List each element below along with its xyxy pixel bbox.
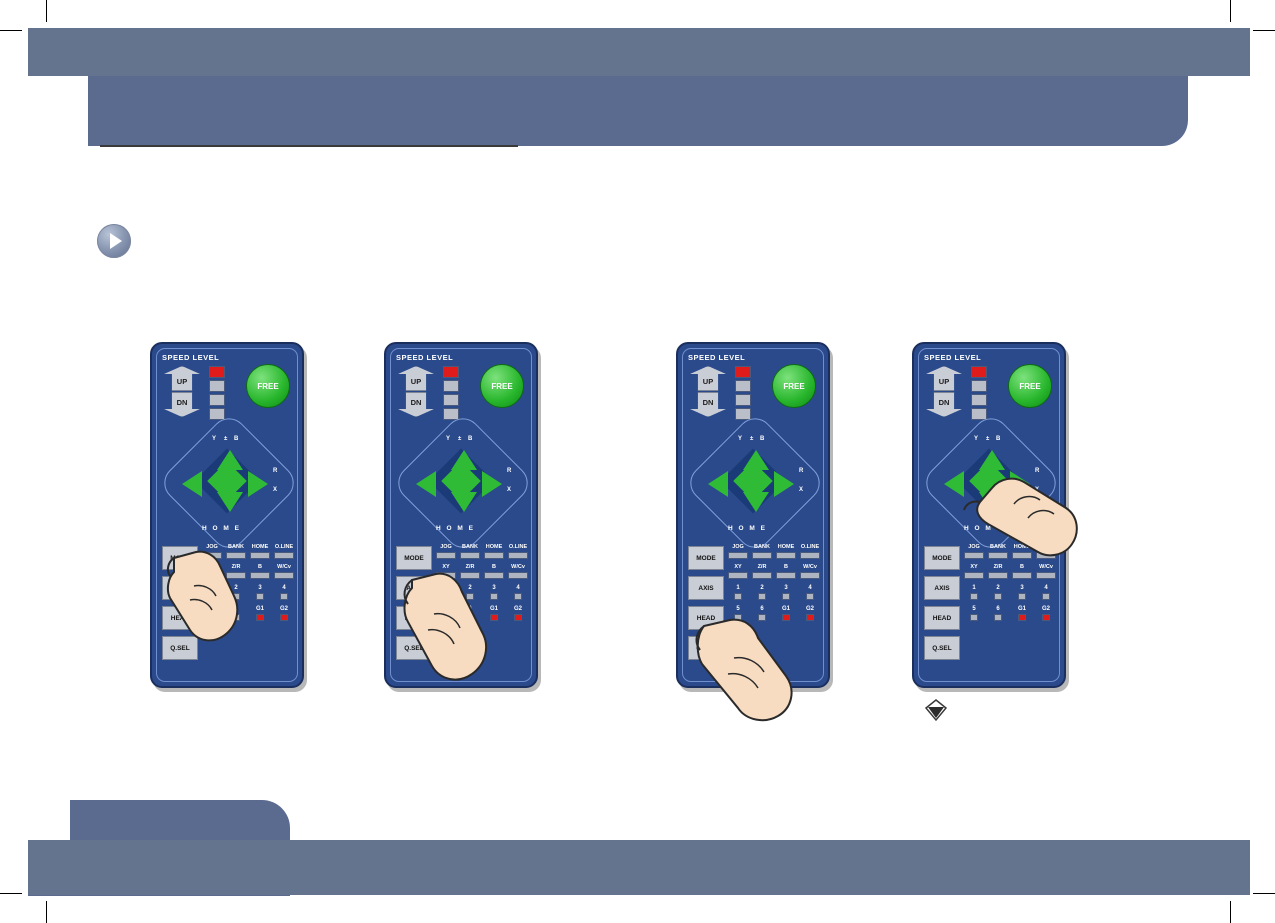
level-led-1 (443, 366, 459, 378)
home-led-2 (484, 552, 504, 559)
number-row-4b: 5 6 G1 G2 (964, 605, 1056, 621)
home-led-3 (776, 552, 796, 559)
xy-label-4: XY (964, 564, 984, 571)
num-1-cell-2[interactable]: 1 (436, 584, 456, 600)
qsel-button-3[interactable]: Q.SEL (688, 636, 724, 660)
g1-label-4: G1 (1012, 605, 1032, 613)
num-6-cell-1[interactable]: 6 (226, 605, 246, 621)
num-2-led-1 (232, 593, 240, 600)
dpad-left-arrow-icon-3[interactable] (708, 471, 728, 497)
num-4-label-3: 4 (800, 584, 820, 592)
wcv-led-3 (800, 572, 820, 579)
g2-led-4 (1042, 614, 1050, 621)
num-3-cell-4[interactable]: 3 (1012, 584, 1032, 600)
g1-cell-1[interactable]: G1 (250, 605, 270, 621)
dpad-label-plusminus-1: ± (224, 436, 227, 442)
controller-panel-3[interactable]: SPEED LEVEL UP DN FREE Y ± B R X H O M E… (676, 342, 830, 688)
num-4-led-2 (514, 593, 522, 600)
bank-label-4: BANK (988, 544, 1008, 551)
status-grid-4: JOG BANK HOME O.LINE XY Z/R B W/Cv 1 2 3… (964, 544, 1056, 626)
num-5-label-3: 5 (728, 605, 748, 613)
home-cell-2[interactable]: HOME (484, 544, 504, 559)
num-2-label-4: 2 (988, 584, 1008, 592)
g1-led-3 (782, 614, 790, 621)
b-cell-1[interactable]: B (250, 564, 270, 579)
num-3-label-4: 3 (1012, 584, 1032, 592)
num-3-cell-1[interactable]: 3 (250, 584, 270, 600)
num-5-led-4 (970, 614, 978, 621)
wcv-cell-1[interactable]: W/Cv (274, 564, 294, 579)
g2-cell-1[interactable]: G2 (274, 605, 294, 621)
num-6-label-4: 6 (988, 605, 1008, 613)
qsel-button-1[interactable]: Q.SEL (162, 636, 198, 660)
level-led-3 (443, 394, 459, 406)
number-row-2b: 5 6 G1 G2 (436, 605, 528, 621)
dpad-label-plusminus-3: ± (750, 436, 753, 442)
zr-cell-4[interactable]: Z/R (988, 564, 1008, 579)
num-6-cell-3[interactable]: 6 (752, 605, 772, 621)
num-6-cell-4[interactable]: 6 (988, 605, 1008, 621)
num-4-cell-2[interactable]: 4 (508, 584, 528, 600)
dpad-home-label-3: H O M E (728, 525, 767, 532)
g2-label-1: G2 (274, 605, 294, 613)
home-cell-4[interactable]: HOME (1012, 544, 1032, 559)
b-cell-4[interactable]: B (1012, 564, 1032, 579)
num-4-led-1 (280, 593, 288, 600)
page-header-band (28, 28, 1250, 76)
jog-label-4: JOG (964, 544, 984, 551)
dpad-right-arrow-icon-2[interactable] (482, 471, 502, 497)
oline-cell-3[interactable]: O.LINE (800, 544, 820, 559)
oline-label-4: O.LINE (1036, 544, 1056, 551)
dpad-left-arrow-icon-1[interactable] (182, 471, 202, 497)
num-4-cell-4[interactable]: 4 (1036, 584, 1056, 600)
g1-cell-3[interactable]: G1 (776, 605, 796, 621)
mode-button-column-2: MODE AXIS HEAD Q.SEL (396, 546, 430, 666)
zr-label-1: Z/R (226, 564, 246, 571)
jog-cell-3[interactable]: JOG (728, 544, 748, 559)
controller-panel-2[interactable]: SPEED LEVEL UP DN FREE Y ± B R X H O M E… (384, 342, 538, 688)
home-label-2: HOME (484, 544, 504, 551)
speed-down-label-2: DN (411, 398, 422, 407)
num-4-label-4: 4 (1036, 584, 1056, 592)
home-label-1: HOME (250, 544, 270, 551)
status-grid-3: JOG BANK HOME O.LINE XY Z/R B W/Cv 1 2 3… (728, 544, 820, 626)
num-2-label-2: 2 (460, 584, 480, 592)
dpad-2[interactable]: Y ± B R X H O M E (394, 430, 526, 540)
zr-led-3 (752, 572, 772, 579)
wcv-label-4: W/Cv (1036, 564, 1056, 571)
g1-led-1 (256, 614, 264, 621)
free-button-2[interactable]: FREE (480, 364, 524, 408)
bank-cell-3[interactable]: BANK (752, 544, 772, 559)
num-4-cell-3[interactable]: 4 (800, 584, 820, 600)
number-row-3b: 5 6 G1 G2 (728, 605, 820, 621)
dpad-right-arrow-icon-3[interactable] (774, 471, 794, 497)
jog-led-3 (728, 552, 748, 559)
num-1-cell-1[interactable]: 1 (202, 584, 222, 600)
dpad-home-label-2: H O M E (436, 525, 475, 532)
free-button-1[interactable]: FREE (246, 364, 290, 408)
head-button-2[interactable]: HEAD (396, 606, 432, 630)
speed-up-label-2: UP (411, 377, 421, 386)
g2-led-1 (280, 614, 288, 621)
dpad-label-r-2: R (507, 468, 511, 474)
dpad-label-r-4: R (1035, 468, 1039, 474)
jog-led-1 (202, 552, 222, 559)
num-5-label-1: 5 (202, 605, 222, 613)
zr-led-4 (988, 572, 1008, 579)
num-5-cell-4[interactable]: 5 (964, 605, 984, 621)
oline-led-3 (800, 552, 820, 559)
num-4-led-4 (1042, 593, 1050, 600)
num-3-led-1 (256, 593, 264, 600)
function-row-3: JOG BANK HOME O.LINE (728, 544, 820, 559)
number-row-4a: 1 2 3 4 (964, 584, 1056, 600)
num-6-led-1 (232, 614, 240, 621)
num-1-cell-3[interactable]: 1 (728, 584, 748, 600)
b-cell-2[interactable]: B (484, 564, 504, 579)
g2-label-4: G2 (1036, 605, 1056, 613)
num-1-cell-4[interactable]: 1 (964, 584, 984, 600)
dpad-label-y-2: Y (446, 436, 450, 442)
home-led-4 (1012, 552, 1032, 559)
g2-led-2 (514, 614, 522, 621)
num-4-cell-1[interactable]: 4 (274, 584, 294, 600)
bank-cell-4[interactable]: BANK (988, 544, 1008, 559)
dpad-label-x-3: X (799, 487, 803, 493)
xy-cell-3[interactable]: XY (728, 564, 748, 579)
status-grid-2: JOG BANK HOME O.LINE XY Z/R B W/Cv 1 2 3… (436, 544, 528, 626)
controller-panel-4[interactable]: SPEED LEVEL UP DN FREE Y ± B R X H O M E… (912, 342, 1066, 688)
b-cell-3[interactable]: B (776, 564, 796, 579)
dpad-3[interactable]: Y ± B R X H O M E (686, 430, 818, 540)
jog-cell-2[interactable]: JOG (436, 544, 456, 559)
oline-cell-4[interactable]: O.LINE (1036, 544, 1056, 559)
wcv-led-4 (1036, 572, 1056, 579)
num-6-led-3 (758, 614, 766, 621)
g1-cell-2[interactable]: G1 (484, 605, 504, 621)
speed-level-label-2: SPEED LEVEL (396, 353, 453, 362)
num-6-label-1: 6 (226, 605, 246, 613)
speed-up-label-1: UP (177, 377, 187, 386)
g2-label-2: G2 (508, 605, 528, 613)
num-1-label-1: 1 (202, 584, 222, 592)
dpad-left-arrow-icon-2[interactable] (416, 471, 436, 497)
function-row-2: JOG BANK HOME O.LINE (436, 544, 528, 559)
num-3-label-2: 3 (484, 584, 504, 592)
mode-button-column-4: MODE AXIS HEAD Q.SEL (924, 546, 958, 666)
jog-label-2: JOG (436, 544, 456, 551)
mode-button-2[interactable]: MODE (396, 546, 432, 570)
head-button-4[interactable]: HEAD (924, 606, 960, 630)
speed-level-indicator-1 (209, 366, 223, 422)
section-rule (100, 145, 518, 147)
jog-cell-1[interactable]: JOG (202, 544, 222, 559)
bank-label-2: BANK (460, 544, 480, 551)
level-led-2 (443, 380, 459, 392)
axis-button-1[interactable]: AXIS (162, 576, 198, 600)
g1-label-2: G1 (484, 605, 504, 613)
zr-label-3: Z/R (752, 564, 772, 571)
page-footer-band (28, 840, 1250, 895)
bank-label-1: BANK (226, 544, 246, 551)
wcv-led-2 (508, 572, 528, 579)
speed-down-label-1: DN (177, 398, 188, 407)
header-notch (28, 76, 88, 146)
xy-label-3: XY (728, 564, 748, 571)
diamond-marker-icon (924, 698, 948, 722)
footer-notch-white (28, 800, 70, 840)
dpad-label-r-1: R (273, 468, 277, 474)
page-header-band-secondary (28, 76, 1188, 146)
mode-button-4[interactable]: MODE (924, 546, 960, 570)
dpad-label-x-4: X (1035, 487, 1039, 493)
level-led-3 (735, 394, 751, 406)
bank-led-4 (988, 552, 1008, 559)
jog-led-2 (436, 552, 456, 559)
free-button-4[interactable]: FREE (1008, 364, 1052, 408)
bank-label-3: BANK (752, 544, 772, 551)
xy-led-2 (436, 572, 456, 579)
wcv-cell-4[interactable]: W/Cv (1036, 564, 1056, 579)
axis-row-3: XY Z/R B W/Cv (728, 564, 820, 579)
qsel-button-4[interactable]: Q.SEL (924, 636, 960, 660)
num-5-led-1 (208, 614, 216, 621)
home-cell-3[interactable]: HOME (776, 544, 796, 559)
dpad-home-label-1: H O M E (202, 525, 241, 532)
speed-up-label-4: UP (939, 377, 949, 386)
speed-level-indicator-2 (443, 366, 457, 422)
crop-mark-tl-h (0, 30, 22, 31)
dpad-label-b-1: B (234, 436, 238, 442)
num-2-label-3: 2 (752, 584, 772, 592)
controller-panel-1[interactable]: SPEED LEVEL UP DN FREE Y ± B R X H O M E… (150, 342, 304, 688)
level-led-1 (971, 366, 987, 378)
num-2-led-4 (994, 593, 1002, 600)
wcv-led-1 (274, 572, 294, 579)
b-led-3 (776, 572, 796, 579)
axis-row-4: XY Z/R B W/Cv (964, 564, 1056, 579)
oline-cell-1[interactable]: O.LINE (274, 544, 294, 559)
function-row-4: JOG BANK HOME O.LINE (964, 544, 1056, 559)
dpad-label-b-4: B (996, 436, 1000, 442)
num-1-label-4: 1 (964, 584, 984, 592)
b-led-4 (1012, 572, 1032, 579)
g1-led-2 (490, 614, 498, 621)
num-5-led-3 (734, 614, 742, 621)
dpad-label-plusminus-2: ± (458, 436, 461, 442)
dpad-1[interactable]: Y ± B R X H O M E (160, 430, 292, 540)
axis-button-3[interactable]: AXIS (688, 576, 724, 600)
status-grid-1: JOG BANK HOME O.LINE XY Z/R B W/Cv 1 2 3… (202, 544, 294, 626)
crop-mark-tl-v (46, 0, 47, 22)
level-led-2 (209, 380, 225, 392)
xy-cell-2[interactable]: XY (436, 564, 456, 579)
bank-led-1 (226, 552, 246, 559)
jog-label-1: JOG (202, 544, 222, 551)
dpad-label-y-4: Y (974, 436, 978, 442)
num-6-led-4 (994, 614, 1002, 621)
oline-label-2: O.LINE (508, 544, 528, 551)
level-led-2 (735, 380, 751, 392)
xy-cell-1[interactable]: XY (202, 564, 222, 579)
dpad-label-y-1: Y (212, 436, 216, 442)
dpad-label-y-3: Y (738, 436, 742, 442)
mode-button-3[interactable]: MODE (688, 546, 724, 570)
number-row-3a: 1 2 3 4 (728, 584, 820, 600)
num-2-cell-4[interactable]: 2 (988, 584, 1008, 600)
wcv-label-3: W/Cv (800, 564, 820, 571)
num-3-led-4 (1018, 593, 1026, 600)
level-led-3 (209, 394, 225, 406)
mode-button-1[interactable]: MODE (162, 546, 198, 570)
dpad-4[interactable]: Y ± B R X H O M E (922, 430, 1054, 540)
home-label-4: HOME (1012, 544, 1032, 551)
num-1-led-2 (442, 593, 450, 600)
num-5-cell-2[interactable]: 5 (436, 605, 456, 621)
bank-cell-1[interactable]: BANK (226, 544, 246, 559)
num-2-cell-1[interactable]: 2 (226, 584, 246, 600)
level-led-1 (735, 366, 751, 378)
crop-mark-bl-v (46, 901, 47, 923)
wcv-cell-2[interactable]: W/Cv (508, 564, 528, 579)
number-row-1b: 5 6 G1 G2 (202, 605, 294, 621)
g1-label-3: G1 (776, 605, 796, 613)
num-1-led-3 (734, 593, 742, 600)
oline-label-1: O.LINE (274, 544, 294, 551)
zr-label-2: Z/R (460, 564, 480, 571)
wcv-label-1: W/Cv (274, 564, 294, 571)
zr-cell-2[interactable]: Z/R (460, 564, 480, 579)
g2-cell-4[interactable]: G2 (1036, 605, 1056, 621)
num-5-cell-1[interactable]: 5 (202, 605, 222, 621)
jog-led-4 (964, 552, 984, 559)
bank-cell-2[interactable]: BANK (460, 544, 480, 559)
num-1-label-3: 1 (728, 584, 748, 592)
home-label-3: HOME (776, 544, 796, 551)
number-row-1a: 1 2 3 4 (202, 584, 294, 600)
g1-cell-4[interactable]: G1 (1012, 605, 1032, 621)
dpad-label-plusminus-4: ± (986, 436, 989, 442)
num-1-led-4 (970, 593, 978, 600)
head-button-1[interactable]: HEAD (162, 606, 198, 630)
num-2-led-2 (466, 593, 474, 600)
num-2-led-3 (758, 593, 766, 600)
wcv-label-2: W/Cv (508, 564, 528, 571)
dpad-right-arrow-icon-1[interactable] (248, 471, 268, 497)
g2-led-3 (806, 614, 814, 621)
num-5-led-2 (442, 614, 450, 621)
axis-button-4[interactable]: AXIS (924, 576, 960, 600)
home-cell-1[interactable]: HOME (250, 544, 270, 559)
qsel-button-2[interactable]: Q.SEL (396, 636, 432, 660)
dpad-left-arrow-icon-4[interactable] (944, 471, 964, 497)
num-3-cell-2[interactable]: 3 (484, 584, 504, 600)
axis-row-1: XY Z/R B W/Cv (202, 564, 294, 579)
g2-cell-3[interactable]: G2 (800, 605, 820, 621)
num-4-label-2: 4 (508, 584, 528, 592)
axis-button-2[interactable]: AXIS (396, 576, 432, 600)
axis-row-2: XY Z/R B W/Cv (436, 564, 528, 579)
b-label-2: B (484, 564, 504, 571)
free-button-3[interactable]: FREE (772, 364, 816, 408)
dpad-right-arrow-icon-4[interactable] (1010, 471, 1030, 497)
head-button-3[interactable]: HEAD (688, 606, 724, 630)
play-circle-icon (97, 224, 131, 258)
g1-led-4 (1018, 614, 1026, 621)
crop-mark-tr-h (1253, 30, 1275, 31)
wcv-cell-3[interactable]: W/Cv (800, 564, 820, 579)
oline-cell-2[interactable]: O.LINE (508, 544, 528, 559)
dpad-home-label-4: H O M E (964, 525, 1003, 532)
num-2-label-1: 2 (226, 584, 246, 592)
crop-mark-bl-h (0, 893, 22, 894)
num-2-cell-2[interactable]: 2 (460, 584, 480, 600)
jog-label-3: JOG (728, 544, 748, 551)
oline-label-3: O.LINE (800, 544, 820, 551)
zr-led-2 (460, 572, 480, 579)
mode-button-column-3: MODE AXIS HEAD Q.SEL (688, 546, 722, 666)
xy-cell-4[interactable]: XY (964, 564, 984, 579)
b-label-1: B (250, 564, 270, 571)
function-row-1: JOG BANK HOME O.LINE (202, 544, 294, 559)
jog-cell-4[interactable]: JOG (964, 544, 984, 559)
g2-cell-2[interactable]: G2 (508, 605, 528, 621)
zr-cell-3[interactable]: Z/R (752, 564, 772, 579)
num-5-cell-3[interactable]: 5 (728, 605, 748, 621)
speed-down-label-3: DN (703, 398, 714, 407)
num-6-led-2 (466, 614, 474, 621)
num-5-label-4: 5 (964, 605, 984, 613)
num-5-label-2: 5 (436, 605, 456, 613)
num-1-led-1 (208, 593, 216, 600)
num-3-led-2 (490, 593, 498, 600)
crop-mark-br-v (1230, 901, 1231, 923)
b-label-4: B (1012, 564, 1032, 571)
oline-led-1 (274, 552, 294, 559)
num-3-led-3 (782, 593, 790, 600)
oline-led-4 (1036, 552, 1056, 559)
zr-cell-1[interactable]: Z/R (226, 564, 246, 579)
xy-led-4 (964, 572, 984, 579)
number-row-2a: 1 2 3 4 (436, 584, 528, 600)
mode-button-column-1: MODE AXIS HEAD Q.SEL (162, 546, 196, 666)
speed-down-label-4: DN (939, 398, 950, 407)
num-3-label-1: 3 (250, 584, 270, 592)
xy-led-1 (202, 572, 222, 579)
num-1-label-2: 1 (436, 584, 456, 592)
xy-led-3 (728, 572, 748, 579)
num-6-cell-2[interactable]: 6 (460, 605, 480, 621)
bank-led-2 (460, 552, 480, 559)
g1-label-1: G1 (250, 605, 270, 613)
num-2-cell-3[interactable]: 2 (752, 584, 772, 600)
home-led-1 (250, 552, 270, 559)
level-led-3 (971, 394, 987, 406)
g2-label-3: G2 (800, 605, 820, 613)
dpad-label-b-2: B (468, 436, 472, 442)
speed-level-label-1: SPEED LEVEL (162, 353, 219, 362)
num-3-cell-3[interactable]: 3 (776, 584, 796, 600)
speed-level-indicator-4 (971, 366, 985, 422)
zr-led-1 (226, 572, 246, 579)
b-led-2 (484, 572, 504, 579)
xy-label-2: XY (436, 564, 456, 571)
dpad-label-b-3: B (760, 436, 764, 442)
dpad-label-r-3: R (799, 468, 803, 474)
dpad-label-x-2: X (507, 487, 511, 493)
